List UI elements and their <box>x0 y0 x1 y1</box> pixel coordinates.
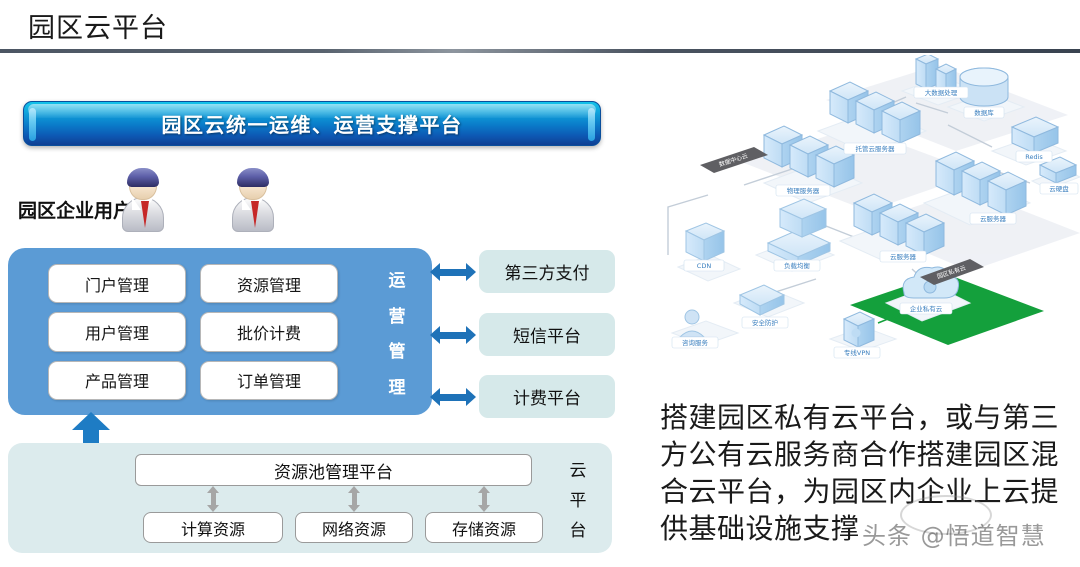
cdn-node <box>686 223 724 261</box>
avatar-hair <box>237 168 269 187</box>
arrow-head-top <box>478 486 490 493</box>
arrow-head-bottom <box>207 505 219 512</box>
label-cloud-disk: 云硬盘 <box>1049 184 1069 193</box>
external-billing-platform[interactable]: 计费平台 <box>479 375 615 418</box>
operations-module-grid: 门户管理 资源管理 用户管理 批价计费 产品管理 订单管理 <box>48 264 338 400</box>
label-redis: Redis <box>1025 153 1043 161</box>
label-physical-server: 物理服务器 <box>787 186 820 195</box>
cloud-platform-panel: 资源池管理平台 计算资源 网络资源 存储资源 云 平 台 <box>8 443 612 553</box>
title-divider <box>0 49 1080 53</box>
label-vpn: 专线VPN <box>844 348 870 357</box>
arrow-head-right <box>466 326 476 344</box>
avatar-tie <box>141 201 149 228</box>
cloud-label-char: 平 <box>570 486 587 511</box>
arrow-head-left <box>430 326 440 344</box>
label-big-data: 大数据处理 <box>925 88 958 97</box>
connector-storage-resource <box>478 486 491 512</box>
user-avatar <box>230 170 276 232</box>
ops-label-char: 理 <box>389 373 406 398</box>
connector-compute-resource <box>207 486 220 512</box>
label-cdn: CDN <box>697 262 712 270</box>
arrow-head-top <box>207 486 219 493</box>
arrow-shaft <box>439 269 467 276</box>
arrow-head-bottom <box>478 505 490 512</box>
external-third-party-payment[interactable]: 第三方支付 <box>479 250 615 293</box>
page-title: 园区云平台 <box>28 6 168 45</box>
cloud-platform-vertical-label: 云 平 台 <box>566 456 590 541</box>
label-load-balancer: 负载均衡 <box>784 261 811 270</box>
avatar-hair <box>127 168 159 187</box>
ops-label-char: 运 <box>389 266 406 291</box>
module-pricing-billing[interactable]: 批价计费 <box>200 312 338 351</box>
operations-vertical-label: 运 营 管 理 <box>384 266 410 398</box>
arrow-head-bottom <box>348 505 360 512</box>
arrow-head-top <box>348 486 360 493</box>
external-sms-platform[interactable]: 短信平台 <box>479 313 615 356</box>
connector-arrow-sms-platform <box>430 326 476 344</box>
cloud-label-char: 台 <box>570 516 587 541</box>
slide-canvas: 园区云平台 园区云统一运维、运营支撑平台 园区企业用户 门户管理 资源管理 用户… <box>0 0 1080 567</box>
module-portal-management[interactable]: 门户管理 <box>48 264 186 303</box>
description-text: 搭建园区私有云平台，或与第三方公有云服务商合作搭建园区混合云平台，为园区内企业上… <box>660 400 1078 548</box>
module-resource-management[interactable]: 资源管理 <box>200 264 338 303</box>
connector-arrow-billing-platform <box>430 388 476 406</box>
banner-title: 园区云统一运维、运营支撑平台 <box>24 102 600 145</box>
arrow-shaft <box>439 394 467 401</box>
ops-label-char: 营 <box>389 302 406 327</box>
resource-storage[interactable]: 存储资源 <box>425 512 543 543</box>
resource-network[interactable]: 网络资源 <box>295 512 413 543</box>
operations-management-panel: 门户管理 资源管理 用户管理 批价计费 产品管理 订单管理 运 营 管 理 <box>8 248 432 415</box>
arrow-shaft <box>439 332 467 339</box>
resource-pool-management-platform[interactable]: 资源池管理平台 <box>135 454 532 486</box>
platform-banner: 园区云统一运维、运营支撑平台 <box>23 101 601 146</box>
module-order-management[interactable]: 订单管理 <box>200 361 338 400</box>
arrow-head-right <box>466 388 476 406</box>
resource-compute[interactable]: 计算资源 <box>143 512 283 543</box>
connector-network-resource <box>348 486 361 512</box>
label-security: 安全防护 <box>752 318 778 327</box>
user-avatar <box>120 170 166 232</box>
vpn-node <box>844 312 874 347</box>
storage-cubes <box>780 199 826 237</box>
label-cloud-server-right: 云服务器 <box>980 214 1007 223</box>
label-enterprise-private-cloud: 企业私有云 <box>910 304 943 313</box>
arrow-head-left <box>430 388 440 406</box>
module-product-management[interactable]: 产品管理 <box>48 361 186 400</box>
label-database: 数据库 <box>974 108 994 117</box>
arrow-head-right <box>466 263 476 281</box>
cloud-label-char: 云 <box>570 456 587 481</box>
avatar-tie <box>251 201 259 228</box>
ops-label-char: 管 <box>389 337 406 362</box>
arrow-head-left <box>430 263 440 281</box>
connector-arrow-third-party-payment <box>430 263 476 281</box>
label-consulting: 咨询服务 <box>682 338 709 347</box>
module-user-management[interactable]: 用户管理 <box>48 312 186 351</box>
cloud-architecture-illustration: 数据中心云 园区私有云 CDN 咨询服务 安全防护 负载均衡 物理服务器 托管云 <box>648 55 1080 400</box>
enterprise-users-label: 园区企业用户 <box>18 196 132 223</box>
label-cloud-server-lower: 云服务器 <box>890 252 917 261</box>
label-hosted-cloud-server: 托管云服务器 <box>856 144 896 153</box>
arrow-head-top <box>72 412 110 430</box>
